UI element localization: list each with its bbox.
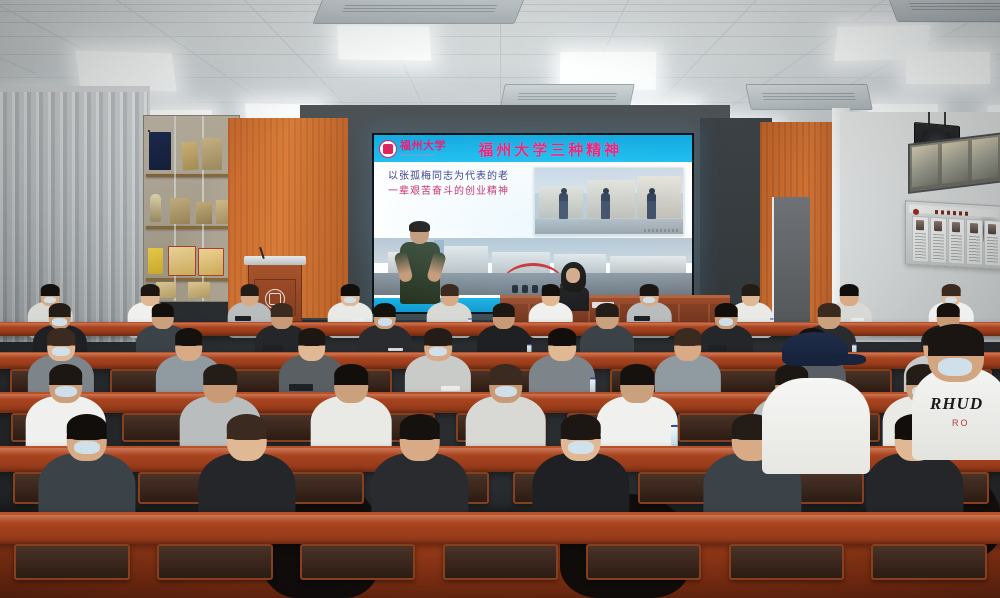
portrait-panel [948, 218, 965, 265]
audience-member-head [47, 329, 75, 360]
slide-subtitle-line-1: 以张孤梅同志为代表的老 [388, 169, 538, 184]
window-glass [942, 141, 968, 184]
audience-member-head [271, 304, 294, 330]
laptop [708, 345, 728, 351]
audience-member-head [489, 365, 523, 403]
ceiling-light-panel [337, 25, 431, 60]
bench-desk [0, 512, 1000, 544]
face-mask [52, 347, 70, 356]
audience-member-head [742, 285, 761, 306]
inset-person [647, 193, 656, 219]
slide-subtitle-line-2: 一辈艰苦奋斗的创业精神 [388, 184, 538, 199]
laptop [235, 316, 251, 321]
certificate [148, 248, 163, 274]
audience-hair-top [141, 284, 160, 296]
water-bottle [671, 425, 678, 446]
audience-hair-top [399, 414, 440, 440]
audience-member-head [548, 329, 576, 360]
board-title-text [935, 210, 969, 216]
university-logo: 福州大学 FUZHOU UNIVERSITY [379, 140, 446, 158]
audience-member-head [493, 304, 516, 330]
seated-staff-face [566, 268, 580, 283]
lecture-hall-photo: 福州大学 FUZHOU UNIVERSITY 福州大学三种精神 以张孤梅同志为代… [0, 0, 1000, 598]
audience-member-head [175, 329, 203, 360]
seat-back[interactable] [586, 544, 701, 580]
ceiling-light-panel [906, 52, 990, 84]
audience-hair-top [715, 303, 738, 317]
audience-member-head [674, 329, 702, 360]
face-mask [429, 347, 447, 356]
audience-member-head [203, 365, 237, 403]
face-mask [719, 318, 733, 326]
audience-hair-top [424, 328, 452, 346]
audience-hair-top [440, 284, 459, 296]
certificate [198, 248, 224, 276]
audience-hair-top [489, 364, 523, 385]
audience-hair-top [620, 364, 654, 385]
curtain-shading [0, 92, 148, 342]
audience-hair-top [548, 328, 576, 346]
portrait-panel [930, 217, 947, 264]
face-mask [44, 297, 56, 303]
university-name: 福州大学 [400, 141, 446, 152]
face-mask [344, 297, 356, 303]
audience-member-head [335, 365, 369, 403]
award-plaque [170, 198, 190, 224]
audience-hair-top [928, 324, 984, 356]
audience-member-head [49, 365, 83, 403]
panorama-motorcycle [522, 285, 528, 293]
inset-caption [644, 229, 680, 232]
portrait-photo [916, 220, 924, 230]
presenter-hair [409, 221, 430, 232]
panorama-motorcycle [512, 285, 518, 293]
window-glass [972, 137, 998, 180]
board-seal-icon [913, 209, 919, 215]
certificate [168, 246, 196, 276]
face-mask [938, 358, 972, 376]
audience-member-head [374, 304, 397, 330]
seat-back[interactable] [300, 544, 415, 580]
seat-back[interactable] [729, 544, 844, 580]
audience-member-head [640, 285, 659, 306]
audience-member-head [227, 415, 268, 461]
face-mask [495, 386, 517, 397]
window-curtains [0, 92, 148, 342]
audience-member-head [240, 285, 259, 306]
audience-member-head [151, 304, 174, 330]
audience-hair-top [203, 364, 237, 385]
inset-person [601, 193, 610, 219]
notebook [388, 348, 403, 352]
audience-hair-top [640, 284, 659, 296]
awards-display-case [143, 115, 240, 302]
face-mask [74, 441, 100, 455]
bench-sheen [0, 515, 1000, 523]
audience-hair-top [674, 328, 702, 346]
audience-member-head [541, 285, 560, 306]
audience-member-head [48, 304, 71, 330]
audience-member-head [596, 304, 619, 330]
portrait-photo [988, 224, 996, 234]
slide-inset-photo [534, 167, 684, 235]
audience-hair-top [335, 364, 369, 385]
audience-hair-top [937, 303, 960, 317]
portrait-photo [934, 221, 942, 231]
audience-member-head [560, 415, 601, 461]
audience-hair-top [47, 328, 75, 346]
seat-back[interactable] [14, 544, 129, 580]
audience-member-head [67, 415, 108, 461]
portrait-panel [912, 216, 929, 263]
audience-member-head [399, 415, 440, 461]
ceiling-speaker-left [148, 130, 150, 132]
window-glass [912, 144, 938, 187]
award-plaque [181, 141, 199, 170]
face-mask [568, 441, 594, 455]
university-seal-icon [379, 140, 397, 158]
audience-member-head [620, 365, 654, 403]
inset-building [587, 180, 635, 218]
audience-member-head [715, 304, 738, 330]
open-doorway[interactable] [772, 197, 810, 323]
audience-member-head [341, 285, 360, 306]
audience-member-with-cap [762, 378, 870, 474]
audience-hair-top [227, 414, 268, 440]
cap-brim [832, 354, 866, 365]
certificate [188, 282, 210, 298]
audience-hair-top [151, 303, 174, 317]
face-mask [378, 318, 392, 326]
audience-hair-top [41, 284, 60, 296]
audience-member-head [928, 326, 984, 382]
audience-torso [762, 378, 870, 474]
audience-hair-top [341, 284, 360, 296]
presenter-figure [398, 222, 442, 308]
face-mask [643, 297, 655, 303]
audience-hair-top [493, 303, 516, 317]
award-plaque [202, 138, 222, 170]
audience-hair-top [742, 284, 761, 296]
portrait-panel [966, 219, 983, 266]
audience-member-head [818, 304, 841, 330]
slide-header-bar: 福州大学 FUZHOU UNIVERSITY 福州大学三种精神 [374, 135, 692, 162]
university-name-en: FUZHOU UNIVERSITY [400, 153, 446, 157]
notebook [353, 318, 365, 321]
notebook [441, 386, 459, 391]
audience-hair-top [596, 303, 619, 317]
portrait-photo [952, 222, 960, 232]
portrait-panel [984, 220, 1000, 267]
audience-hair-top [271, 303, 294, 317]
audience-member-head [298, 329, 326, 360]
trophy [150, 194, 161, 222]
portrait-photo [970, 223, 978, 233]
ac-vent [887, 0, 1000, 22]
audience-hair-top [840, 284, 859, 296]
seat-back[interactable] [871, 544, 986, 580]
ac-vent [745, 84, 873, 110]
audience-hair-top [541, 284, 560, 296]
audience-member-head [424, 329, 452, 360]
audience-hair-top [560, 414, 601, 440]
shirt-graphic-sub: RO [952, 418, 970, 428]
slide-subtitle: 以张孤梅同志为代表的老 一辈艰苦奋斗的创业精神 [388, 169, 538, 199]
slide-title: 福州大学三种精神 [478, 139, 622, 160]
seat-back[interactable] [157, 544, 272, 580]
seat-back[interactable] [443, 544, 558, 580]
audience-hair-top [240, 284, 259, 296]
audience-hair-top [298, 328, 326, 346]
laptop [634, 316, 650, 321]
face-mask [55, 386, 77, 397]
audience-hair-top [67, 414, 108, 440]
audience-hair-top [374, 303, 397, 317]
lectern-control-panel[interactable] [244, 256, 306, 265]
audience-member-head [440, 285, 459, 306]
inset-building [637, 176, 681, 218]
audience-hair-top [818, 303, 841, 317]
audience-hair-top [942, 284, 961, 296]
ac-vent [312, 0, 525, 24]
laptop [263, 345, 283, 351]
shirt-graphic-text: RHUD [930, 394, 983, 414]
audience-hair-top [49, 364, 83, 385]
award-plaque [196, 202, 212, 224]
audience-hair-top [175, 328, 203, 346]
audience-hair-top [48, 303, 71, 317]
notebook [851, 318, 863, 321]
award-plaque [149, 132, 171, 170]
panorama-motorcycle [532, 285, 538, 293]
honor-roll-board [905, 200, 1000, 269]
inset-person [559, 193, 568, 219]
audience-member-head [840, 285, 859, 306]
laptop [289, 384, 313, 391]
face-mask [52, 318, 66, 326]
